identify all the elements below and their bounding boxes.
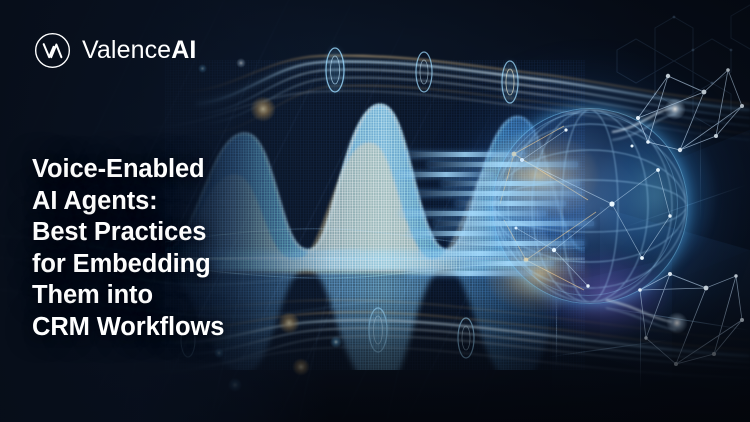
hero-banner: ValenceAI Voice-Enabled AI Agents: Best … — [0, 0, 750, 422]
headline-line: AI Agents: — [32, 186, 292, 218]
brand-logo[interactable]: ValenceAI — [34, 32, 196, 69]
brand-name-light: Valence — [82, 36, 171, 64]
headline-line: Best Practices — [32, 217, 292, 249]
brand-name-bold: AI — [171, 36, 196, 64]
headline-line: Voice-Enabled — [32, 154, 292, 186]
valence-va-monogram-circle-icon — [34, 32, 71, 69]
headline-line: Them into — [32, 280, 292, 312]
headline-line: CRM Workflows — [32, 312, 292, 344]
hero-headline: Voice-Enabled AI Agents: Best Practices … — [32, 154, 292, 343]
headline-line: for Embedding — [32, 249, 292, 281]
brand-wordmark: ValenceAI — [82, 38, 196, 63]
